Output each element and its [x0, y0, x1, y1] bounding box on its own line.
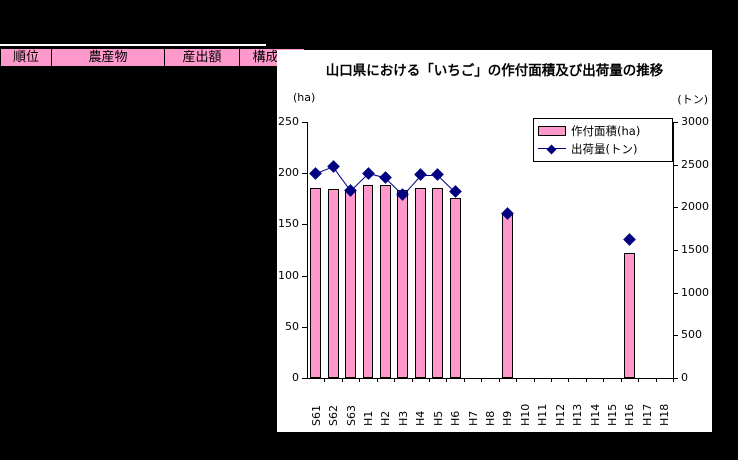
x-tick — [603, 378, 604, 382]
y-tick-label-right: 2000 — [681, 200, 709, 213]
y-tick-label-right: 0 — [681, 371, 688, 384]
x-tick-label-H1: H1 — [362, 384, 375, 426]
y-tick-left — [302, 276, 307, 277]
x-tick — [586, 378, 587, 382]
y-axis-left-line — [307, 122, 308, 379]
data-point-S62 — [327, 160, 340, 173]
bar-H5 — [432, 188, 443, 378]
data-point-H16 — [623, 233, 636, 246]
x-tick-label-H12: H12 — [554, 384, 567, 426]
y-tick-label-left: 0 — [292, 371, 299, 384]
bar-H1 — [363, 185, 374, 378]
bar-S63 — [345, 191, 356, 378]
x-tick — [324, 378, 325, 382]
x-tick — [394, 378, 395, 382]
x-tick — [446, 378, 447, 382]
y-tick-right — [673, 122, 678, 123]
x-tick — [551, 378, 552, 382]
x-tick — [621, 378, 622, 382]
x-tick-label-H6: H6 — [449, 384, 462, 426]
legend-line-swatch-icon — [538, 144, 566, 154]
table-header-row: 順位 農産物 産出額 構成比 — [1, 49, 305, 67]
y-tick-right — [673, 207, 678, 208]
y-tick-left — [302, 327, 307, 328]
y-tick-right — [673, 335, 678, 336]
x-tick-label-H5: H5 — [432, 384, 445, 426]
x-tick — [638, 378, 639, 382]
x-tick — [481, 378, 482, 382]
y-tick-right — [673, 165, 678, 166]
y-tick-left — [302, 173, 307, 174]
x-tick — [499, 378, 500, 382]
y-tick-label-left: 50 — [285, 320, 299, 333]
bar-S62 — [328, 189, 339, 378]
y-tick-label-left: 200 — [278, 166, 299, 179]
x-tick-label-S63: S63 — [345, 384, 358, 426]
x-tick — [429, 378, 430, 382]
rank-table: 順位 農産物 産出額 構成比 — [0, 48, 305, 67]
x-tick — [516, 378, 517, 382]
y-tick-label-right: 500 — [681, 328, 702, 341]
y-tick-label-right: 1000 — [681, 286, 709, 299]
y-tick-label-left: 100 — [278, 269, 299, 282]
x-tick — [656, 378, 657, 382]
bar-H3 — [397, 190, 408, 378]
x-tick-label-S61: S61 — [310, 384, 323, 426]
x-axis-line — [307, 378, 674, 379]
y-tick-left — [302, 378, 307, 379]
bar-H2 — [380, 185, 391, 378]
y-tick-label-left: 150 — [278, 217, 299, 230]
x-tick-label-H16: H16 — [623, 384, 636, 426]
y-tick-label-left: 250 — [278, 115, 299, 128]
bar-H4 — [415, 188, 426, 378]
bar-H9 — [502, 214, 513, 378]
x-tick-label-H10: H10 — [519, 384, 532, 426]
x-tick-label-H7: H7 — [467, 384, 480, 426]
y-tick-right — [673, 250, 678, 251]
table-header-rank[interactable]: 順位 — [1, 49, 52, 67]
chart-panel: 山口県における「いちご」の作付面積及び出荷量の推移 (ha) (トン) 0501… — [277, 50, 712, 432]
legend-item-shipment: 出荷量(トン) — [538, 140, 668, 158]
legend-bar-swatch-icon — [538, 126, 566, 136]
y-tick-left — [302, 224, 307, 225]
table-top-rule — [0, 44, 266, 46]
legend-label-shipment: 出荷量(トン) — [571, 141, 637, 157]
legend-item-area: 作付面積(ha) — [538, 122, 668, 140]
x-tick-label-S62: S62 — [327, 384, 340, 426]
table-header-produce[interactable]: 農産物 — [52, 49, 165, 67]
y-tick-left — [302, 122, 307, 123]
x-tick — [534, 378, 535, 382]
x-tick-label-H14: H14 — [589, 384, 602, 426]
x-tick — [673, 378, 674, 382]
y-tick-right — [673, 293, 678, 294]
plot-area: 050100150200250050010001500200025003000S… — [277, 50, 712, 432]
x-tick-label-H2: H2 — [379, 384, 392, 426]
table-header-output-amount[interactable]: 産出額 — [165, 49, 240, 67]
x-tick-label-H13: H13 — [571, 384, 584, 426]
x-tick-label-H4: H4 — [414, 384, 427, 426]
bar-H6 — [450, 198, 461, 378]
y-tick-label-right: 2500 — [681, 158, 709, 171]
y-tick-label-right: 1500 — [681, 243, 709, 256]
x-tick-label-H18: H18 — [658, 384, 671, 426]
x-tick-label-H3: H3 — [397, 384, 410, 426]
x-tick-label-H8: H8 — [484, 384, 497, 426]
legend-label-area: 作付面積(ha) — [571, 123, 640, 139]
x-tick — [342, 378, 343, 382]
bar-S61 — [310, 188, 321, 378]
x-tick-label-H9: H9 — [501, 384, 514, 426]
x-tick — [377, 378, 378, 382]
bar-H16 — [624, 253, 635, 378]
y-tick-label-right: 3000 — [681, 115, 709, 128]
x-tick — [412, 378, 413, 382]
x-tick-label-H17: H17 — [641, 384, 654, 426]
x-tick-label-H15: H15 — [606, 384, 619, 426]
x-tick — [359, 378, 360, 382]
x-tick-label-H11: H11 — [536, 384, 549, 426]
x-tick — [568, 378, 569, 382]
chart-legend: 作付面積(ha) 出荷量(トン) — [533, 118, 673, 162]
data-point-S61 — [309, 167, 322, 180]
x-tick — [464, 378, 465, 382]
